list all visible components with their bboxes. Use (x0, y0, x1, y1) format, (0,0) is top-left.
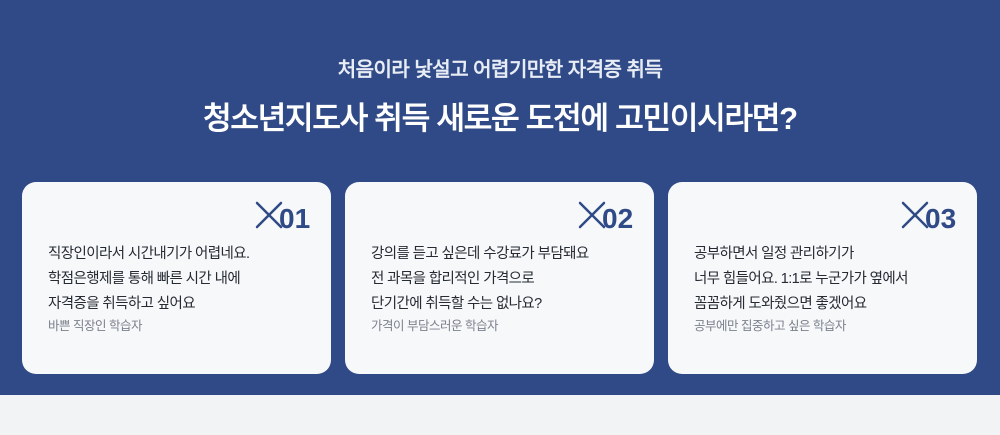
bottom-strip (0, 395, 1000, 435)
card-body-text: 직장인이라서 시간내기가 어렵네요. 학점은행제를 통해 빠른 시간 내에 자격… (48, 242, 305, 317)
list-item: 01 직장인이라서 시간내기가 어렵네요. 학점은행제를 통해 빠른 시간 내에… (22, 182, 331, 374)
card-number-text: 02 (602, 203, 633, 234)
card-tag-text: 바쁜 직장인 학습자 (48, 315, 142, 334)
promo-banner: 처음이라 낯설고 어렵기만한 자격증 취득 청소년지도사 취득 새로운 도전에 … (0, 0, 1000, 435)
card-number-badge: 01 (251, 196, 313, 238)
card-tag-text: 공부에만 집중하고 싶은 학습자 (694, 315, 846, 334)
eyebrow-text: 처음이라 낯설고 어렵기만한 자격증 취득 (0, 58, 1000, 82)
card-tag-text: 가격이 부담스러운 학습자 (371, 315, 498, 334)
page-title: 청소년지도사 취득 새로운 도전에 고민이시라면? (0, 100, 1000, 139)
card-body-text: 강의를 듣고 싶은데 수강료가 부담돼요 전 과목을 합리적인 가격으로 단기간… (371, 242, 628, 317)
card-number-badge: 03 (897, 196, 959, 238)
card-number-badge: 02 (574, 196, 636, 238)
header: 처음이라 낯설고 어렵기만한 자격증 취득 청소년지도사 취득 새로운 도전에 … (0, 58, 1000, 139)
list-item: 02 강의를 듣고 싶은데 수강료가 부담돼요 전 과목을 합리적인 가격으로 … (345, 182, 654, 374)
list-item: 03 공부하면서 일정 관리하기가 너무 힘들어요. 1:1로 누군가가 옆에서… (668, 182, 977, 374)
card-number-text: 01 (279, 203, 310, 234)
card-list: 01 직장인이라서 시간내기가 어렵네요. 학점은행제를 통해 빠른 시간 내에… (22, 182, 978, 374)
card-number-text: 03 (925, 203, 956, 234)
card-body-text: 공부하면서 일정 관리하기가 너무 힘들어요. 1:1로 누군가가 옆에서 꼼꼼… (694, 242, 951, 317)
